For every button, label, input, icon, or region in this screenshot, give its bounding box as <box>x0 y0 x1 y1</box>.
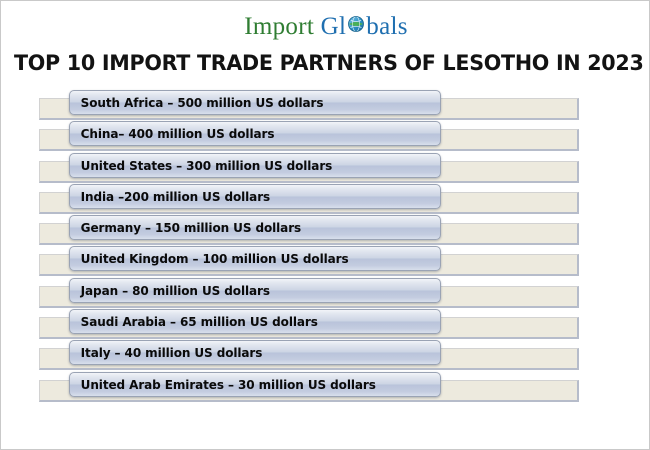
bar-chart: South Africa – 500 million US dollars Ch… <box>39 96 579 409</box>
bar-label: United Kingdom – 100 million US dollars <box>70 251 349 266</box>
bar-italy[interactable]: Italy – 40 million US dollars <box>69 340 441 365</box>
bar-south-africa[interactable]: South Africa – 500 million US dollars <box>69 90 441 115</box>
bar-label: India –200 million US dollars <box>70 189 270 204</box>
bar-united-kingdom[interactable]: United Kingdom – 100 million US dollars <box>69 246 441 271</box>
brand-logo: Import Gl bals <box>1 11 650 43</box>
bar-saudi-arabia[interactable]: Saudi Arabia – 65 million US dollars <box>69 309 441 334</box>
bar-label: Germany – 150 million US dollars <box>70 220 301 235</box>
bar-japan[interactable]: Japan – 80 million US dollars <box>69 278 441 303</box>
bar-label: United Arab Emirates – 30 million US dol… <box>70 377 376 392</box>
logo-word-gl: Gl <box>321 13 347 40</box>
bar-label: Japan – 80 million US dollars <box>70 283 270 298</box>
bar-label: South Africa – 500 million US dollars <box>70 95 323 110</box>
bar-label: United States – 300 million US dollars <box>70 158 332 173</box>
bar-label: Italy – 40 million US dollars <box>70 345 262 360</box>
bar-label: China– 400 million US dollars <box>70 126 274 141</box>
bar-germany[interactable]: Germany – 150 million US dollars <box>69 215 441 240</box>
chart-row: United Arab Emirates – 30 million US dol… <box>39 378 579 409</box>
bar-united-states[interactable]: United States – 300 million US dollars <box>69 153 441 178</box>
infographic-page: Import Gl bals TOP 10 IMPORT TRADE PARTN… <box>0 0 650 450</box>
bar-label: Saudi Arabia – 65 million US dollars <box>70 314 318 329</box>
bar-united-arab-emirates[interactable]: United Arab Emirates – 30 million US dol… <box>69 372 441 397</box>
logo-word-bals: bals <box>366 13 407 40</box>
bar-china[interactable]: China– 400 million US dollars <box>69 121 441 146</box>
page-title: TOP 10 IMPORT TRADE PARTNERS OF LESOTHO … <box>14 51 638 76</box>
globe-icon <box>346 14 366 34</box>
bar-india[interactable]: India –200 million US dollars <box>69 184 441 209</box>
logo-word-import: Import <box>244 13 314 40</box>
